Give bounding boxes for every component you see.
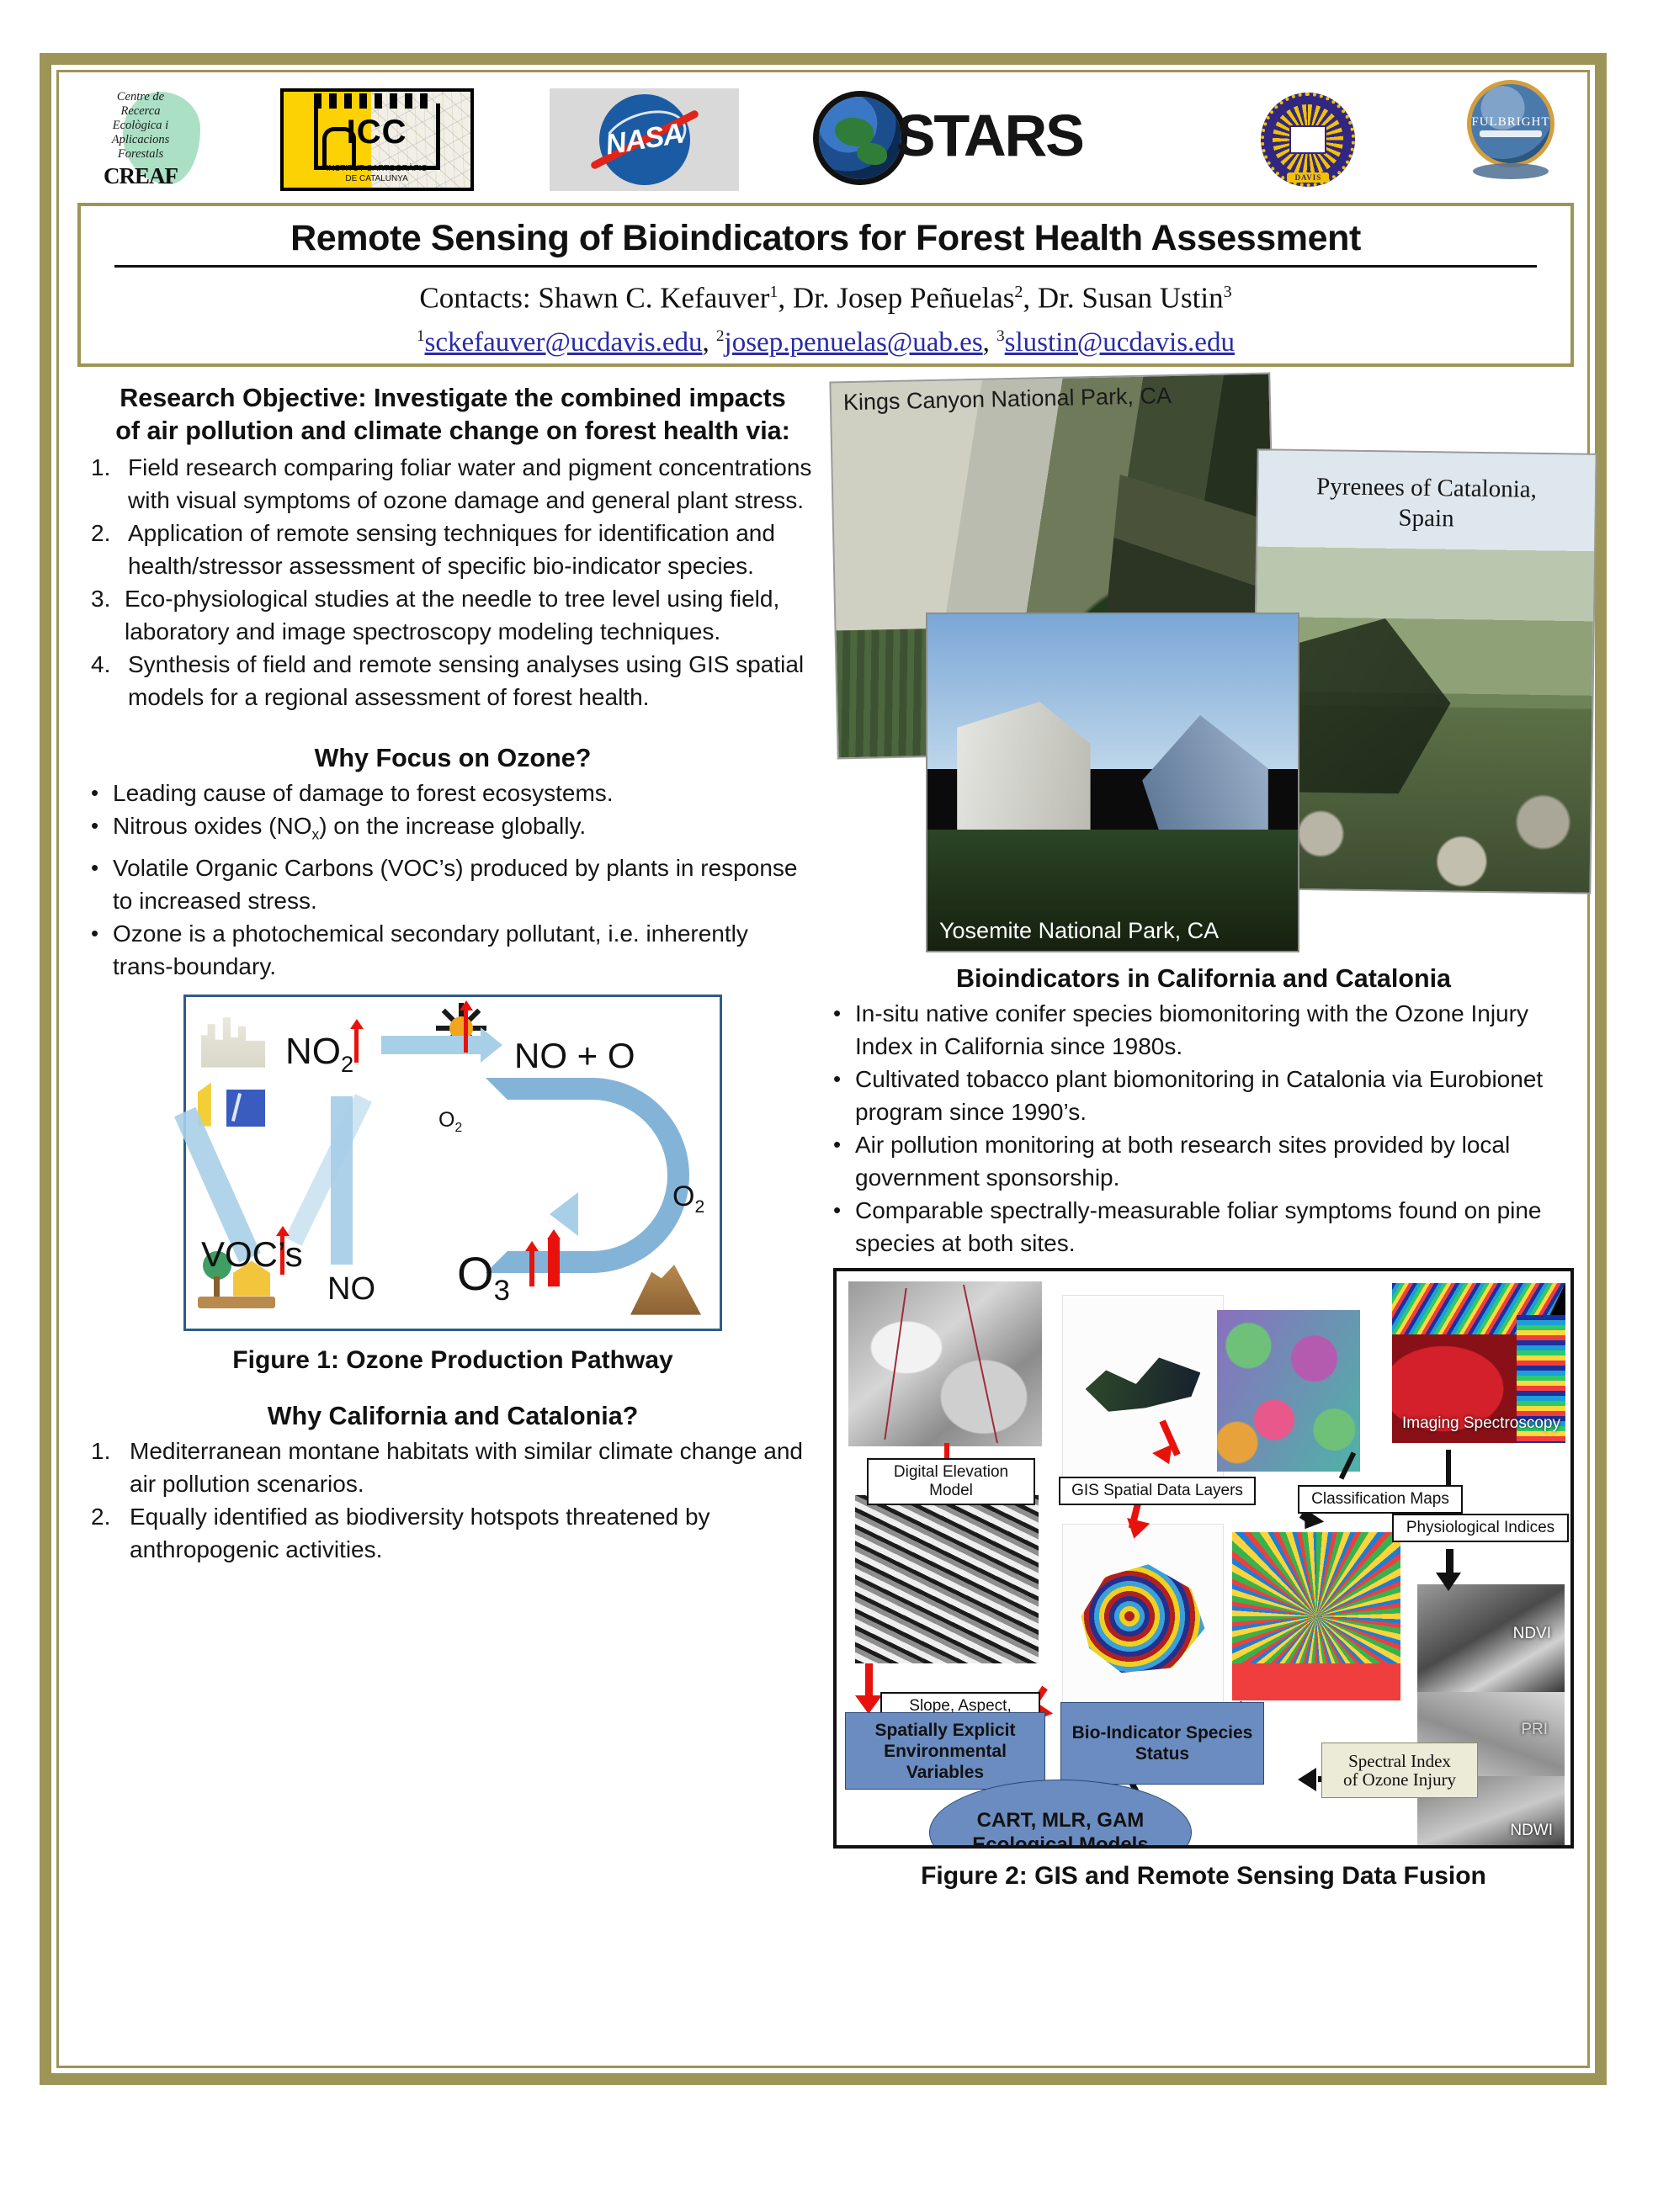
spatially-explicit-line2: Environmental Variables <box>846 1741 1044 1783</box>
list-item-text: Ozone is a photochemical secondary pollu… <box>113 917 815 983</box>
bio-indicator-line1: Bio-Indicator Species <box>1072 1722 1253 1743</box>
black-arrow-cube-to-phys <box>1446 1450 1451 1487</box>
list-item-text: Mediterranean montane habitats with simi… <box>130 1435 815 1500</box>
label-o3: O3 <box>457 1246 510 1308</box>
label-no: NO <box>327 1271 375 1308</box>
creaf-line-1: Centre de <box>77 90 204 104</box>
dem-label: Digital Elevation Model <box>867 1458 1035 1505</box>
label-vocs: VOC’s <box>201 1234 303 1275</box>
classified-raster-image <box>1232 1532 1400 1700</box>
bullet-icon: • <box>833 1128 855 1161</box>
list-item-text: Synthesis of field and remote sensing an… <box>128 648 815 713</box>
list-item: •Nitrous oxides (NOx) on the increase gl… <box>91 809 815 851</box>
label-no2: NO2 <box>285 1031 353 1078</box>
list-item: 4.Synthesis of field and remote sensing … <box>91 648 815 713</box>
fulbright-band-icon <box>1480 130 1542 137</box>
list-item-text: Nitrous oxides (NOx) on the increase glo… <box>113 809 815 851</box>
list-item-number: 1. <box>91 1435 130 1467</box>
nasa-logo: NASA <box>550 88 739 191</box>
pyrenees-caption-line1: Pyrenees of Catalonia, <box>1270 470 1583 505</box>
black-arrow-head-spectral <box>1298 1768 1316 1791</box>
slope-aspect-image <box>855 1495 1039 1663</box>
author-1-name: Shawn C. Kefauver <box>538 282 769 315</box>
red-arrow-head-box <box>855 1695 882 1714</box>
creaf-line-2: Recerca <box>77 104 204 119</box>
red-arrow-no2 <box>354 1027 359 1063</box>
list-item-text: Equally identified as biodiversity hotsp… <box>130 1500 815 1566</box>
contacts-line: Contacts: Shawn C. Kefauver1, Dr. Josep … <box>103 275 1549 316</box>
contacts-label: Contacts: <box>419 282 530 315</box>
classification-label: Classification Maps <box>1298 1485 1463 1514</box>
dem-boundary-line-2 <box>963 1285 998 1443</box>
list-item-text: Comparable spectrally-measurable foliar … <box>855 1194 1574 1260</box>
list-item: 1.Field research comparing foliar water … <box>91 451 815 517</box>
red-arrow-o3-large <box>548 1238 560 1286</box>
right-column: Kings Canyon National Park, CA Pyrenees … <box>833 377 1574 1891</box>
creaf-logo: Centre de Recerca Ecològica i Aplicacion… <box>77 90 204 189</box>
ndvi-overlay-label: NDVI <box>1513 1625 1551 1643</box>
email-link-kefauver[interactable]: sckefauver@ucdavis.edu <box>425 327 703 358</box>
sponsor-logo-bar: Centre de Recerca Ecològica i Aplicacion… <box>77 89 1574 190</box>
ecological-models-ellipse: CART, MLR, GAM Ecological Models <box>929 1780 1192 1849</box>
email-1-sup: 1 <box>417 327 425 345</box>
figure-2-gis-data-fusion: Imaging Spectroscopy NDVI PRI NDWI <box>833 1268 1574 1849</box>
bioindicators-heading: Bioindicators in California and Cataloni… <box>833 963 1574 995</box>
list-item-text: Eco-physiological studies at the needle … <box>125 582 815 648</box>
blue-arrow-head-1 <box>481 1027 502 1063</box>
twi-shape <box>1076 1555 1210 1679</box>
poster-frame-inner: Centre de Recerca Ecològica i Aplicacion… <box>56 70 1590 2068</box>
spectral-index-line2: of Ozone Injury <box>1327 1770 1472 1789</box>
topo-wetness-index-image <box>1062 1524 1224 1712</box>
list-item-number: 3. <box>91 582 125 615</box>
creaf-wordmark: CREAF <box>77 163 204 189</box>
list-item: •In-situ native conifer species biomonit… <box>833 997 1574 1063</box>
email-3-sup: 3 <box>996 327 1005 345</box>
list-item: •Cultivated tobacco plant biomonitoring … <box>833 1063 1574 1128</box>
physiological-indices-label: Physiological Indices <box>1392 1514 1569 1542</box>
page-title: Remote Sensing of Bioindicators for Fore… <box>114 216 1537 268</box>
ecological-models-line1: CART, MLR, GAM <box>972 1808 1148 1833</box>
list-item: •Comparable spectrally-measurable foliar… <box>833 1194 1574 1260</box>
figure-1-ozone-pathway: NO2 NO + O O2 O2 VOC’s NO O3 <box>183 995 722 1331</box>
kings-canyon-caption: Kings Canyon National Park, CA <box>831 376 1269 422</box>
spatially-explicit-line1: Spatially Explicit <box>846 1720 1044 1741</box>
yosemite-caption: Yosemite National Park, CA <box>927 913 1298 949</box>
bullet-icon: • <box>833 1194 855 1227</box>
bullet-icon: • <box>833 1063 855 1095</box>
list-item: 3.Eco-physiological studies at the needl… <box>91 582 815 648</box>
ndwi-overlay-label: NDWI <box>1510 1822 1553 1840</box>
author-2-name: Dr. Josep Peñuelas <box>793 282 1014 315</box>
icc-wordmark: ICC <box>284 114 470 151</box>
bullet-icon: • <box>833 997 855 1030</box>
bullet-icon: • <box>91 917 113 950</box>
bio-indicator-status-box: Bio-Indicator Species Status <box>1060 1702 1264 1785</box>
list-item: 2.Equally identified as biodiversity hot… <box>91 1500 815 1566</box>
uc-davis-seal: DAVIS <box>1245 88 1371 191</box>
imaging-spectroscopy-cube: Imaging Spectroscopy <box>1392 1283 1565 1443</box>
dem-boundary-line-1 <box>885 1288 907 1440</box>
email-link-ustin[interactable]: slustin@ucdavis.edu <box>1005 327 1235 358</box>
bio-indicator-line2: Status <box>1072 1743 1253 1764</box>
creaf-line-5: Forestals <box>77 147 204 162</box>
list-item-number: 4. <box>91 648 128 681</box>
list-item-text: Application of remote sensing techniques… <box>128 517 815 582</box>
icc-logo: ICC INSTITUT CARTOGRÀFIC DE CATALUNYA <box>280 88 474 191</box>
imaging-spectroscopy-overlay-label: Imaging Spectroscopy <box>1402 1414 1560 1433</box>
bullet-icon: • <box>91 851 113 884</box>
email-link-penuelas[interactable]: josep.penuelas@uab.es <box>725 327 983 358</box>
uc-davis-book-icon <box>1289 125 1326 154</box>
creaf-line-4: Aplicacions <box>77 133 204 147</box>
author-2-sup: 2 <box>1014 283 1023 301</box>
label-no-plus-o: NO + O <box>514 1036 635 1076</box>
bullet-icon: • <box>91 809 113 842</box>
research-objective-list: 1.Field research comparing foliar water … <box>91 451 815 713</box>
figure-1-caption: Figure 1: Ozone Production Pathway <box>91 1346 815 1375</box>
author-3-sup: 3 <box>1224 283 1232 301</box>
yosemite-photo: Yosemite National Park, CA <box>926 613 1299 952</box>
contact-emails: 1sckefauver@ucdavis.edu, 2josep.penuelas… <box>103 321 1549 358</box>
list-item-text: Leading cause of damage to forest ecosys… <box>113 777 815 809</box>
blue-arrow-o2-branch <box>285 1094 372 1245</box>
icc-subtitle-line1: INSTITUT CARTOGRÀFIC <box>284 164 470 174</box>
volcano-icon <box>630 1263 701 1315</box>
label-o2-right: O2 <box>672 1180 704 1217</box>
list-item: •Volatile Organic Carbons (VOC’s) produc… <box>91 851 815 917</box>
list-item-text: Air pollution monitoring at both researc… <box>855 1128 1574 1194</box>
uc-davis-sunburst-icon <box>1273 104 1343 175</box>
author-3-name: Dr. Susan Ustin <box>1038 282 1224 315</box>
pri-overlay-label: PRI <box>1521 1721 1548 1739</box>
black-arrow-head-ndvi <box>1436 1573 1461 1591</box>
list-item-text: Volatile Organic Carbons (VOC’s) produce… <box>113 851 815 917</box>
blue-arrow-loop-o2 <box>486 1078 689 1273</box>
why-ca-catalonia-list: 1.Mediterranean montane habitats with si… <box>91 1435 815 1566</box>
fulbright-logo: FULBRIGHT <box>1448 88 1574 191</box>
pyrenees-caption: Pyrenees of Catalonia, Spain <box>1257 465 1595 541</box>
pyrenees-caption-line2: Spain <box>1269 501 1582 535</box>
list-item-text: Field research comparing foliar water an… <box>128 451 815 517</box>
cstars-wordmark: STARS <box>896 102 1083 169</box>
ecological-models-line2: Ecological Models <box>972 1833 1148 1849</box>
poster-frame-outer: Centre de Recerca Ecològica i Aplicacion… <box>40 53 1607 2085</box>
vegetation-shape <box>1086 1351 1201 1414</box>
why-ozone-list: •Leading cause of damage to forest ecosy… <box>91 777 815 983</box>
list-item: •Ozone is a photochemical secondary poll… <box>91 917 815 983</box>
list-item: •Leading cause of damage to forest ecosy… <box>91 777 815 809</box>
spectral-index-label: Spectral Index of Ozone Injury <box>1321 1743 1478 1798</box>
spectral-index-line1: Spectral Index <box>1327 1752 1472 1770</box>
email-2-sup: 2 <box>716 327 725 345</box>
list-item-text: Cultivated tobacco plant biomonitoring i… <box>855 1063 1574 1128</box>
list-item: •Air pollution monitoring at both resear… <box>833 1128 1574 1194</box>
red-arrow-o3-small <box>529 1249 534 1286</box>
list-item-text: In-situ native conifer species biomonito… <box>855 997 1574 1063</box>
site-photo-collage: Kings Canyon National Park, CA Pyrenees … <box>833 377 1574 957</box>
bullet-icon: • <box>91 777 113 809</box>
research-objective-heading: Research Objective: Investigate the comb… <box>91 382 815 448</box>
list-item-number: 2. <box>91 1500 130 1533</box>
list-item: 1.Mediterranean montane habitats with si… <box>91 1435 815 1500</box>
factory-body <box>198 1083 228 1127</box>
list-item-number: 2. <box>91 517 128 549</box>
classified-raster-red-band <box>1232 1663 1400 1700</box>
label-o2-small: O2 <box>438 1108 462 1136</box>
spatially-explicit-box: Spatially Explicit Environmental Variabl… <box>845 1712 1045 1790</box>
classification-map-image <box>1217 1310 1360 1472</box>
cstars-globe-icon <box>819 97 901 179</box>
red-arrow-sun <box>464 1009 468 1053</box>
factory-icon <box>198 1074 267 1127</box>
why-ozone-heading: Why Focus on Ozone? <box>91 742 815 775</box>
fulbright-shadow-icon <box>1473 163 1549 179</box>
why-ca-catalonia-heading: Why California and Catalonia? <box>91 1400 815 1433</box>
author-1-sup: 1 <box>769 283 778 301</box>
dem-raster-image <box>848 1281 1042 1446</box>
uc-davis-wordmark: DAVIS <box>1287 172 1329 183</box>
pyrenees-photo: Pyrenees of Catalonia, Spain <box>1251 448 1597 894</box>
gis-layers-label: GIS Spatial Data Layers <box>1059 1477 1256 1505</box>
creaf-logo-lines: Centre de Recerca Ecològica i Aplicacion… <box>77 90 204 162</box>
fulbright-wordmark: FULBRIGHT <box>1448 115 1574 130</box>
list-item: 2.Application of remote sensing techniqu… <box>91 517 815 582</box>
icc-subtitle-line2: DE CATALUNYA <box>284 174 470 184</box>
city-icon <box>201 1012 265 1068</box>
list-item-number: 1. <box>91 451 128 484</box>
cstars-land-2 <box>857 143 887 165</box>
vegetation-layer-image <box>1062 1295 1224 1482</box>
creaf-line-3: Ecològica i <box>77 119 204 133</box>
bioindicators-list: •In-situ native conifer species biomonit… <box>833 997 1574 1260</box>
cstars-logo: STARS <box>816 88 1169 191</box>
ndvi-image: NDVI <box>1417 1584 1565 1695</box>
title-band: Remote Sensing of Bioindicators for Fore… <box>77 203 1574 367</box>
poster-root: Centre de Recerca Ecològica i Aplicacion… <box>0 0 1674 2212</box>
left-column: Research Objective: Investigate the comb… <box>91 382 815 1566</box>
icc-subtitle: INSTITUT CARTOGRÀFIC DE CATALUNYA <box>284 164 470 184</box>
figure-2-caption: Figure 2: GIS and Remote Sensing Data Fu… <box>833 1862 1574 1891</box>
